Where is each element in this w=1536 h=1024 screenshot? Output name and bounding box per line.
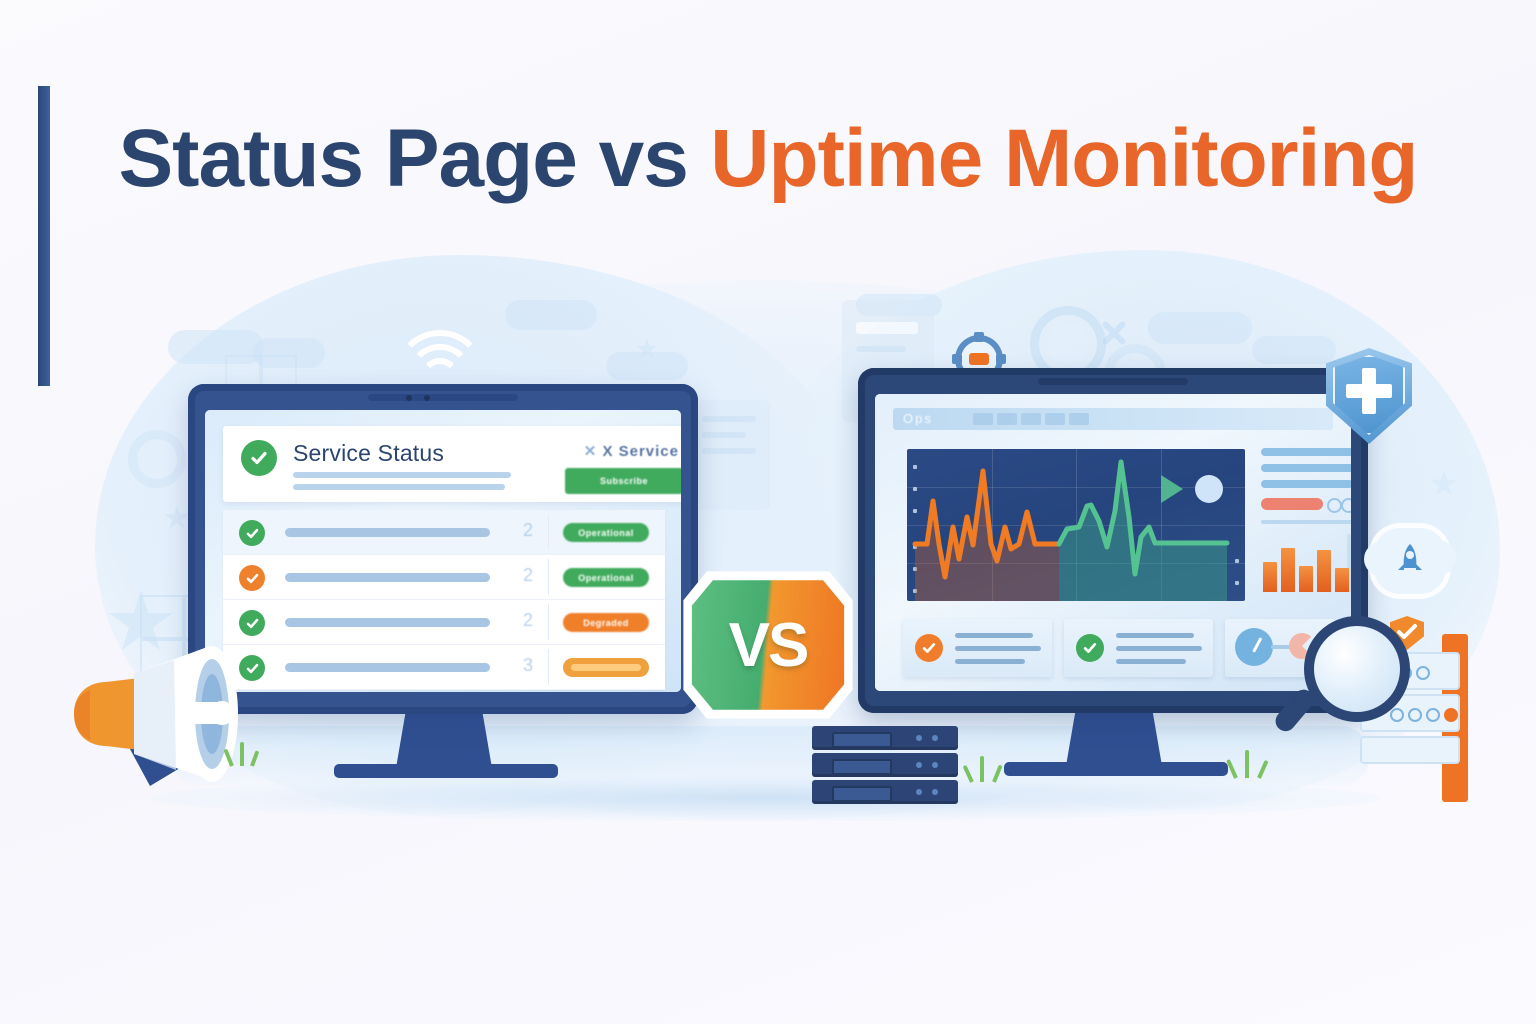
monitor-camera-bar (1038, 378, 1188, 385)
page-title: Status Page vs Uptime Monitoring (0, 118, 1536, 200)
row-value: 3 (523, 655, 533, 676)
decorative-gear-icon (128, 430, 186, 488)
decorative-document (690, 400, 770, 510)
status-page-brand: ✕ X Service (584, 442, 679, 460)
uptime-dashboard-app: Ops (875, 394, 1351, 691)
right-monitor-stand-neck (1066, 710, 1162, 766)
placeholder-line (293, 484, 505, 490)
decorative-cloud (606, 352, 688, 380)
bar (1335, 568, 1349, 592)
check-circle-icon (1076, 634, 1104, 662)
server-unit (812, 753, 958, 777)
uptime-monitoring-monitor: Ops (858, 368, 1368, 713)
grass-tuft (228, 742, 264, 766)
placeholder-line (1261, 480, 1351, 488)
row-divider (548, 649, 549, 685)
table-row[interactable]: 2 Operational (223, 510, 665, 555)
bar-chart (1261, 530, 1351, 592)
subscribe-button[interactable]: Subscribe (565, 468, 681, 494)
server-unit (812, 726, 958, 750)
service-status-title: Service Status (293, 440, 444, 467)
placeholder-line (293, 472, 511, 478)
grass-tuft (1232, 750, 1272, 778)
bar (1263, 562, 1277, 592)
decorative-cloud (1148, 312, 1252, 344)
rocket-cloud-icon (1374, 528, 1446, 594)
row-value: 2 (523, 610, 533, 631)
status-badge: Operational (563, 568, 649, 587)
ground-shadow (150, 775, 1380, 821)
row-value: 2 (523, 565, 533, 586)
placeholder-line (1261, 520, 1351, 524)
decorative-cloud (505, 300, 597, 330)
status-card[interactable] (1064, 619, 1213, 677)
server-rack-icon (812, 726, 962, 808)
placeholder-line (1116, 633, 1194, 638)
status-cards (903, 619, 1335, 677)
shield-pole (38, 86, 50, 386)
placeholder-line (955, 633, 1033, 638)
status-ball-icon (1195, 475, 1223, 503)
row-value: 2 (523, 520, 533, 541)
latency-chart (907, 449, 1245, 601)
shield-cross-icon (1326, 348, 1412, 444)
left-monitor-stand-base (334, 764, 558, 778)
status-badge: Degraded (563, 613, 649, 632)
title-part-orange: Uptime Monitoring (710, 113, 1417, 204)
url-bar[interactable]: Ops (893, 408, 1333, 430)
speed-gauge-icon (1235, 628, 1273, 666)
decorative-star (1430, 470, 1458, 498)
decorative-cloud (1252, 336, 1336, 364)
bar (1299, 566, 1313, 592)
placeholder-line (1261, 448, 1351, 456)
row-divider (548, 514, 549, 550)
row-divider (548, 559, 549, 595)
chart-series-svg (907, 449, 1245, 601)
left-monitor-stand-neck (396, 712, 492, 768)
title-part-navy: Status Page vs (118, 113, 687, 204)
vs-badge: VS (678, 565, 858, 725)
placeholder-line (285, 663, 490, 672)
status-dot-icon (1327, 498, 1342, 513)
row-divider (548, 604, 549, 640)
placeholder-line (285, 573, 490, 582)
url-text: Ops (903, 411, 933, 426)
check-circle-icon (239, 565, 265, 591)
status-badge (563, 658, 649, 677)
vs-label: VS (678, 565, 858, 725)
monitor-led (424, 395, 430, 401)
server-unit (812, 780, 958, 804)
decorative-x-icon (1098, 318, 1128, 348)
status-dot-icon (1341, 498, 1351, 513)
alert-pill (1261, 498, 1323, 510)
check-circle-icon (241, 440, 277, 476)
uptime-dashboard-screen: Ops (875, 394, 1351, 691)
placeholder-line (955, 646, 1041, 651)
play-triangle-icon (1161, 475, 1183, 503)
placeholder-line (285, 618, 490, 627)
bar (1281, 548, 1295, 592)
right-monitor-stand-base (1004, 762, 1228, 776)
table-row[interactable]: 2 Operational (223, 555, 665, 600)
megaphone-icon (62, 630, 312, 810)
placeholder-line (955, 659, 1025, 664)
rocket-icon (1389, 540, 1431, 582)
service-status-header: Service Status ✕ X Service Subscribe (223, 426, 681, 502)
bar (1317, 550, 1331, 592)
grass-tuft (968, 756, 1008, 782)
placeholder-line (1116, 646, 1202, 651)
placeholder-line (1261, 464, 1351, 472)
metrics-side-panel (1257, 444, 1351, 601)
monitor-camera-bar (368, 394, 518, 401)
check-circle-icon (915, 634, 943, 662)
magnifying-glass-icon (1296, 612, 1416, 742)
placeholder-line (285, 528, 490, 537)
url-placeholder-blocks (973, 413, 1089, 425)
check-circle-icon (239, 520, 265, 546)
status-card[interactable] (903, 619, 1052, 677)
placeholder-line (1116, 659, 1186, 664)
status-badge: Operational (563, 523, 649, 542)
illustration-canvas: Status Page vs Uptime Monitoring Service… (0, 0, 1536, 1024)
monitor-led (406, 395, 412, 401)
